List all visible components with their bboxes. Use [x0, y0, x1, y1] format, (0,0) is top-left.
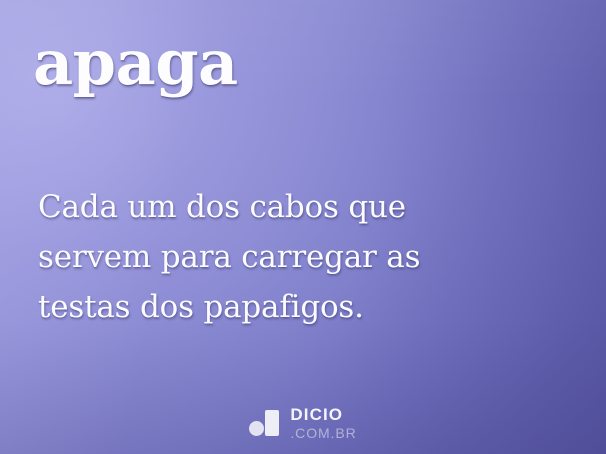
definition-line: servem para carregar as: [38, 232, 558, 282]
definition-text-block: Cada um dos cabos que servem para carreg…: [38, 182, 558, 332]
dicio-logo-domain: .COM.BR: [290, 426, 356, 440]
circle-icon: [249, 421, 264, 436]
dicio-logo-text: DICIO .COM.BR: [290, 406, 356, 440]
definition-card: apaga Cada um dos cabos que servem para …: [0, 0, 606, 454]
dicio-logo: DICIO .COM.BR: [0, 406, 606, 440]
dicio-logo-name: DICIO: [290, 406, 343, 423]
definition-line: testas dos papafigos.: [38, 282, 558, 332]
entry-word-title: apaga: [33, 30, 238, 95]
bar-icon: [265, 410, 279, 436]
card-content: apaga Cada um dos cabos que servem para …: [0, 0, 606, 454]
definition-line: Cada um dos cabos que: [38, 182, 558, 232]
dicio-logo-mark-icon: [249, 410, 279, 436]
